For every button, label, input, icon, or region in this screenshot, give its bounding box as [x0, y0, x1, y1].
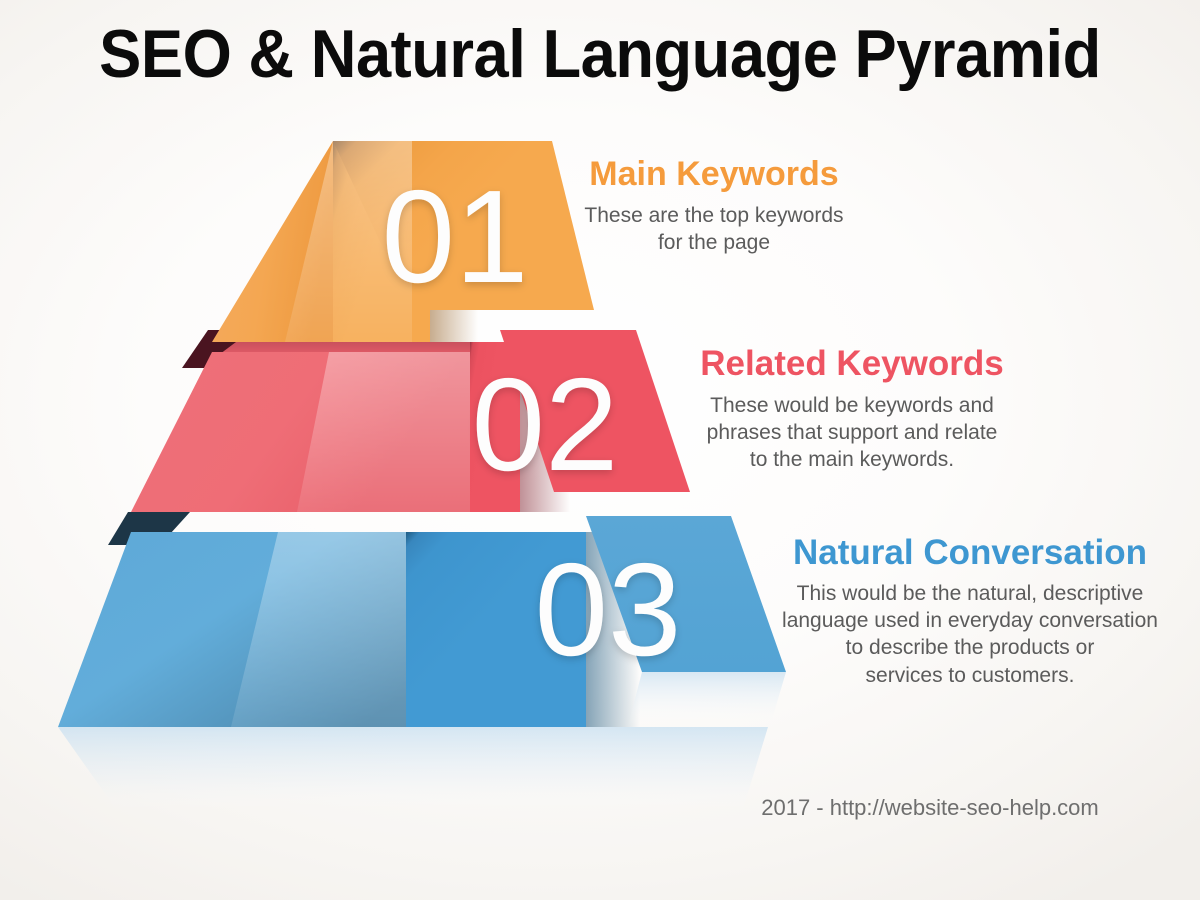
tier-2-body-line: phrases that support and relate — [652, 419, 1052, 446]
pyramid-tier-2[interactable]: 02 — [131, 330, 690, 512]
tier-2-text-block: Related Keywords These would be keywords… — [652, 345, 1052, 474]
tier-3-number: 03 — [535, 536, 682, 683]
tier-3-heading: Natural Conversation — [742, 534, 1198, 572]
tier-1-number: 01 — [382, 163, 529, 310]
tier-3-body-line: to describe the products or — [742, 634, 1198, 661]
footer-credit: 2017 - http://website-seo-help.com — [700, 795, 1160, 821]
tier-2-body: These would be keywords and phrases that… — [652, 392, 1052, 474]
tier-2-body-line: to the main keywords. — [652, 446, 1052, 473]
tier-3-body-line: language used in everyday conversation — [742, 607, 1198, 634]
tier-3-body-line: This would be the natural, descriptive — [742, 580, 1198, 607]
tier-1-body-line: These are the top keywords — [538, 202, 890, 229]
infographic-canvas: SEO & Natural Language Pyramid — [0, 0, 1200, 900]
tier-3-text-block: Natural Conversation This would be the n… — [742, 534, 1198, 689]
tier-2-body-line: These would be keywords and — [652, 392, 1052, 419]
tier-3-body-line: services to customers. — [742, 662, 1198, 689]
tier-1-text-block: Main Keywords These are the top keywords… — [538, 156, 890, 256]
tier-1-body-line: for the page — [538, 229, 890, 256]
tier-3-body: This would be the natural, descriptive l… — [742, 580, 1198, 689]
tier-2-number: 02 — [472, 351, 619, 498]
pyramid-tier-1[interactable]: 01 — [212, 141, 594, 342]
pyramid-tier-3[interactable]: 03 — [58, 512, 786, 812]
tier-2-heading: Related Keywords — [652, 345, 1052, 383]
tier-3-reflection — [58, 727, 768, 812]
tier-1-heading: Main Keywords — [538, 156, 890, 193]
tier-1-body: These are the top keywords for the page — [538, 202, 890, 257]
